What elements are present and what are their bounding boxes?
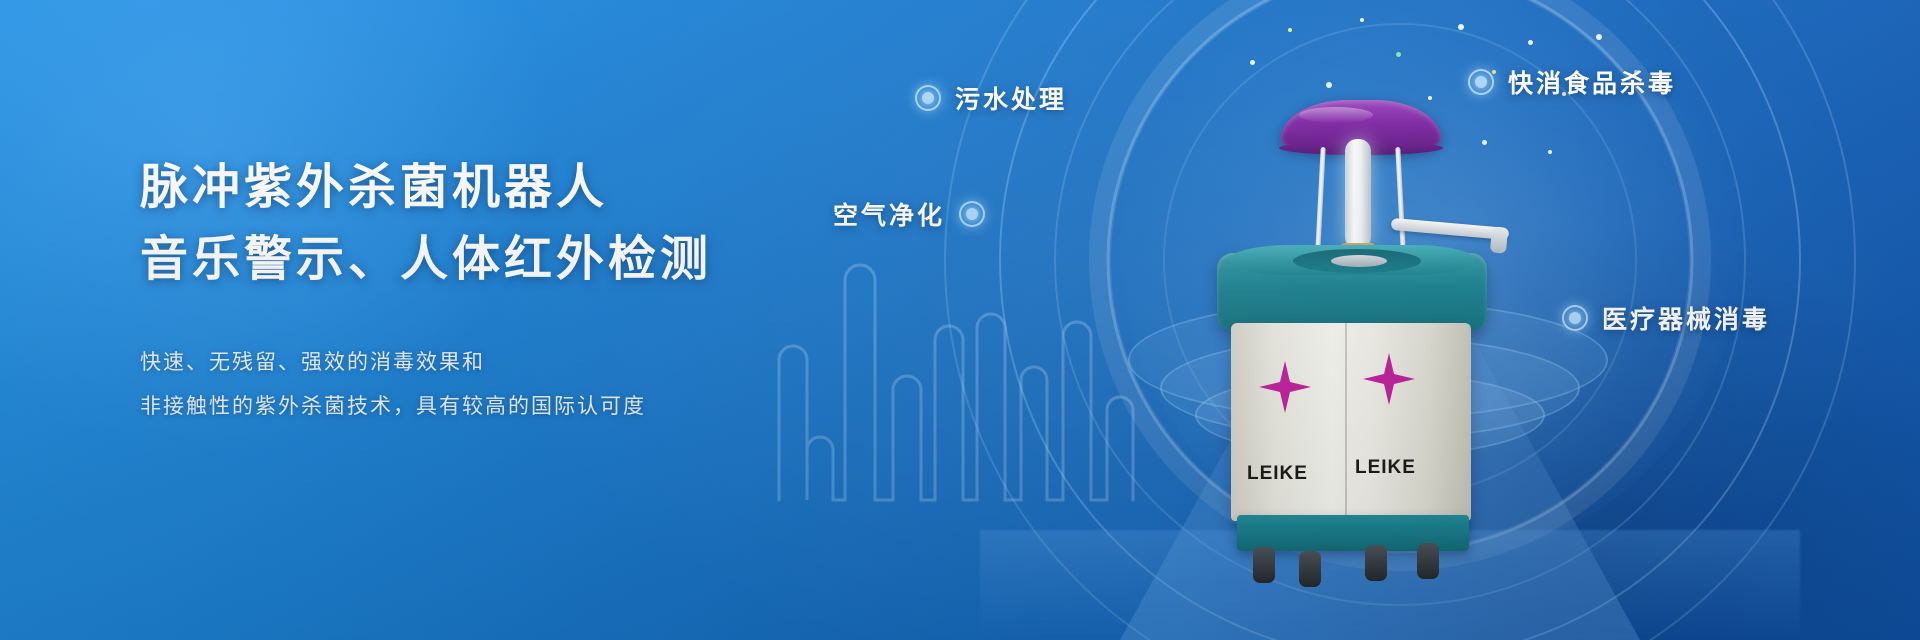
banner-hero: 脉冲紫外杀菌机器人 音乐警示、人体红外检测 快速、无残留、强效的消毒效果和 非接… [0,0,1920,640]
overlay-vignette [0,0,1920,640]
